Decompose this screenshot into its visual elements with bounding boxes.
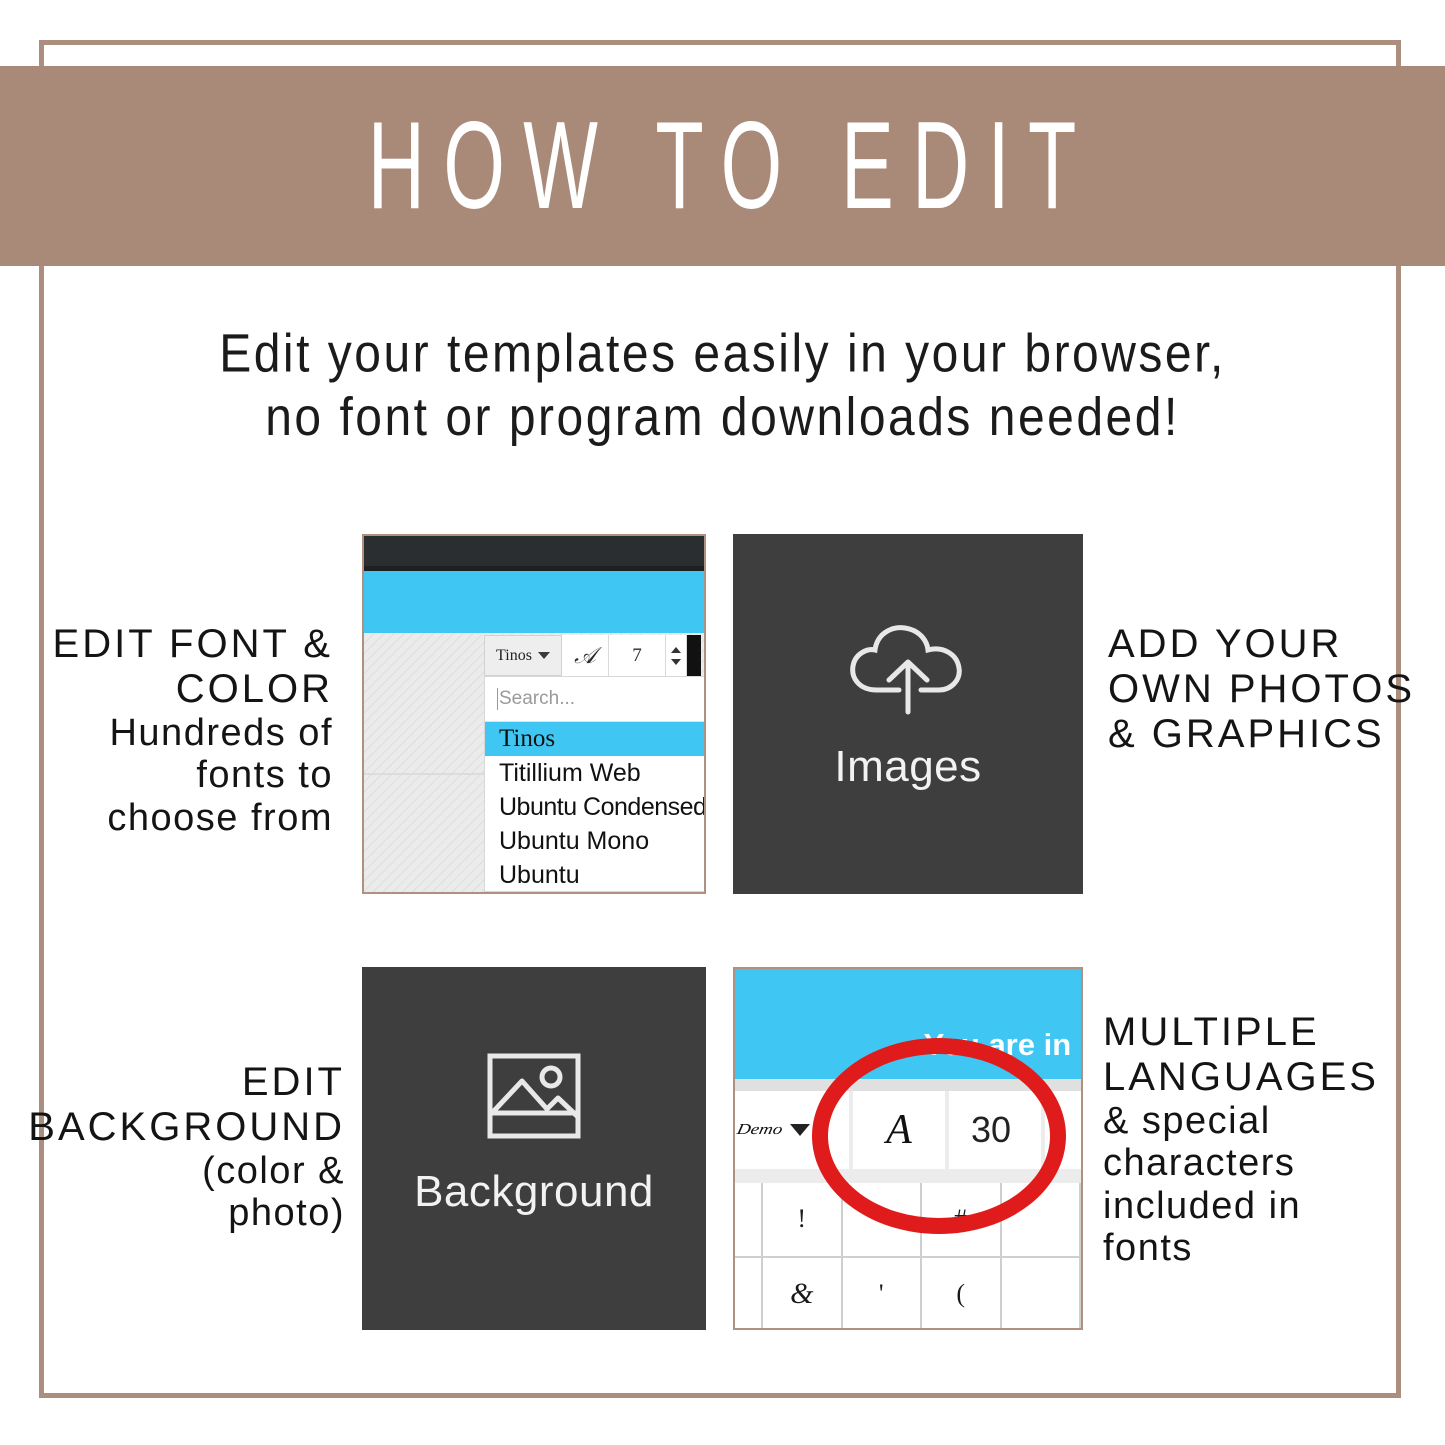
screenshot-background-tile[interactable]: Background xyxy=(362,967,706,1330)
font-size-stepper[interactable] xyxy=(666,635,687,676)
font-size-input[interactable]: 7 xyxy=(609,635,666,676)
background-tile-label: Background xyxy=(414,1167,654,1217)
font-option-tinos[interactable]: Tinos xyxy=(485,722,706,756)
font-option-label: Ubuntu Mono xyxy=(499,827,649,856)
font-family-value: Tinos xyxy=(496,647,532,665)
character-cell[interactable] xyxy=(735,1183,763,1258)
character-cell[interactable]: & xyxy=(763,1258,843,1331)
script-a-icon[interactable]: 𝒜 xyxy=(562,635,609,676)
caption-line: choose from xyxy=(53,797,333,840)
caption-line: OWN PHOTOS xyxy=(1108,667,1415,712)
caret-down-icon xyxy=(538,652,550,659)
caption-line: & GRAPHICS xyxy=(1108,712,1415,757)
font-family-select[interactable]: Tinos xyxy=(484,635,562,676)
font-option-ubuntu-mono[interactable]: Ubuntu Mono xyxy=(485,824,706,858)
caption-line: ADD YOUR xyxy=(1108,622,1415,667)
font-dropdown-panel: Search... Tinos Titillium Web Ubuntu Con… xyxy=(484,676,706,892)
font-search-input[interactable]: Search... xyxy=(485,677,706,722)
app-titlebar xyxy=(364,536,704,566)
caret-down-icon xyxy=(790,1124,810,1136)
images-tile-content: Images xyxy=(733,534,1083,894)
font-option-label: Ubuntu xyxy=(499,861,580,890)
subtitle-line-1: Edit your templates easily in your brows… xyxy=(0,323,1445,386)
stepper-down-icon[interactable] xyxy=(671,659,681,665)
caption-line: EDIT FONT & xyxy=(53,622,333,667)
caption-line: photo) xyxy=(28,1192,345,1235)
caption-add-photos: ADD YOUR OWN PHOTOS & GRAPHICS xyxy=(1108,622,1415,756)
font-size-value: 7 xyxy=(632,645,642,667)
character-cell[interactable]: ' xyxy=(843,1258,923,1331)
font-family-value: Demo xyxy=(735,1121,784,1139)
character-cell[interactable] xyxy=(735,1258,763,1331)
font-option-label: Tinos xyxy=(499,725,555,753)
screenshot-images-tile[interactable]: Images xyxy=(733,534,1083,894)
caption-line: MULTIPLE xyxy=(1103,1010,1379,1055)
images-tile-label: Images xyxy=(834,742,981,792)
subtitle-text: Edit your templates easily in your brows… xyxy=(0,323,1445,450)
character-cell[interactable] xyxy=(1002,1258,1082,1331)
font-search-placeholder: Search... xyxy=(499,688,575,710)
script-a-glyph: 𝒜 xyxy=(574,643,596,669)
caption-edit-font-color: EDIT FONT & COLOR Hundreds of fonts to c… xyxy=(53,622,333,839)
caption-line: included in xyxy=(1103,1185,1379,1228)
cloud-upload-icon xyxy=(847,620,969,716)
caption-edit-background: EDIT BACKGROUND (color & photo) xyxy=(28,1060,345,1235)
caption-line: fonts xyxy=(1103,1227,1379,1270)
subtitle-line-2: no font or program downloads needed! xyxy=(0,387,1445,450)
font-option-ubuntu[interactable]: Ubuntu xyxy=(485,858,706,892)
font-option-titillium-web[interactable]: Titillium Web xyxy=(485,756,706,790)
font-option-ubuntu-condensed[interactable]: Ubuntu Condensed xyxy=(485,790,706,824)
font-option-label: Ubuntu Condensed xyxy=(499,793,706,822)
background-tile-content: Background xyxy=(362,967,706,1330)
caption-line: BACKGROUND xyxy=(28,1105,345,1150)
page-title: HOW TO EDIT xyxy=(350,104,1095,229)
image-photo-icon xyxy=(485,1051,583,1141)
caption-line: EDIT xyxy=(28,1060,345,1105)
caption-line: fonts to xyxy=(53,754,333,797)
screenshot-font-picker: Tinos 𝒜 7 Search... Tinos Titillium Web … xyxy=(362,534,706,894)
stepper-up-icon[interactable] xyxy=(671,647,681,653)
header-banner: HOW TO EDIT xyxy=(0,66,1445,266)
character-cell[interactable]: ( xyxy=(922,1258,1002,1331)
text-color-swatch[interactable] xyxy=(687,635,701,676)
caption-line: characters xyxy=(1103,1142,1379,1185)
caption-line: COLOR xyxy=(53,667,333,712)
app-cyan-header xyxy=(364,571,704,633)
caption-line: & special xyxy=(1103,1100,1379,1143)
caption-line: Hundreds of xyxy=(53,712,333,755)
red-circle-highlight-annotation xyxy=(812,1038,1066,1234)
font-option-label: Titillium Web xyxy=(499,759,641,788)
character-cell[interactable]: ! xyxy=(763,1183,843,1258)
caption-line: LANGUAGES xyxy=(1103,1055,1379,1100)
caption-line: (color & xyxy=(28,1150,345,1193)
caption-multiple-languages: MULTIPLE LANGUAGES & special characters … xyxy=(1103,1010,1379,1270)
font-toolbar: Tinos 𝒜 7 xyxy=(484,635,706,676)
